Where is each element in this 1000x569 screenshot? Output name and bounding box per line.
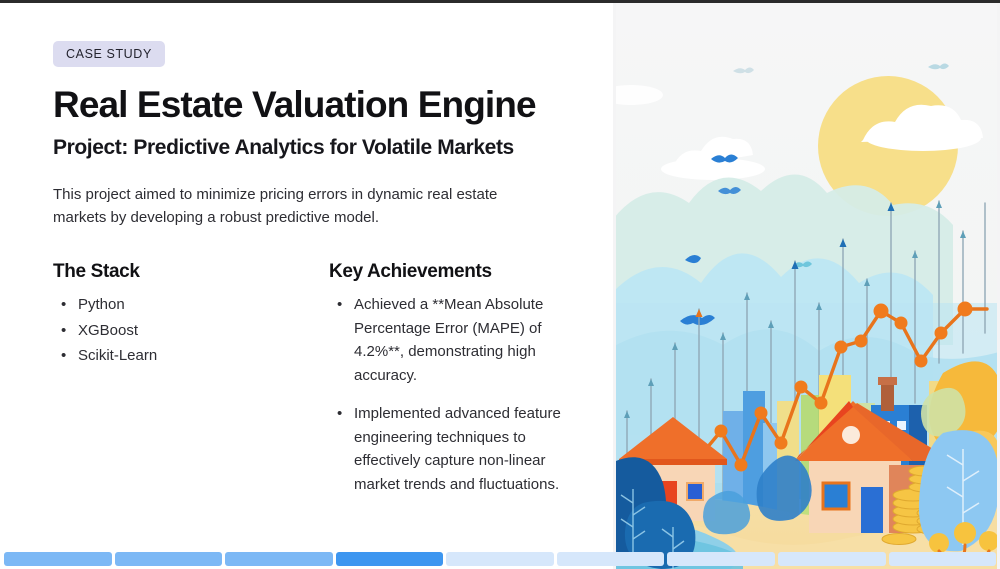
page-title: Real Estate Valuation Engine <box>53 85 569 125</box>
illustration-left-edge <box>613 3 616 569</box>
list-item: Python <box>78 293 329 317</box>
achievements-column: Key Achievements Achieved a **Mean Absol… <box>329 261 569 511</box>
illustration-panel <box>613 3 1000 569</box>
progress-segment-7[interactable] <box>667 552 775 566</box>
progress-segment-9[interactable] <box>889 552 997 566</box>
list-item: Achieved a **Mean Absolute Percentage Er… <box>354 293 569 388</box>
stack-list: Python XGBoost Scikit-Learn <box>53 293 329 368</box>
progress-segment-4[interactable] <box>336 552 444 566</box>
stack-column: The Stack Python XGBoost Scikit-Learn <box>53 261 329 511</box>
slide-root: CASE STUDY Real Estate Valuation Engine … <box>0 0 1000 569</box>
progress-segment-3[interactable] <box>225 552 333 566</box>
status-badge: CASE STUDY <box>53 41 165 67</box>
achievements-list: Achieved a **Mean Absolute Percentage Er… <box>329 293 569 497</box>
intro-paragraph: This project aimed to minimize pricing e… <box>53 183 523 230</box>
real-estate-growth-illustration <box>613 3 1000 569</box>
slide-content: CASE STUDY Real Estate Valuation Engine … <box>0 3 613 569</box>
page-subtitle: Project: Predictive Analytics for Volati… <box>53 136 569 160</box>
list-item: Scikit-Learn <box>78 344 329 368</box>
progress-segment-8[interactable] <box>778 552 886 566</box>
progress-segment-2[interactable] <box>115 552 223 566</box>
list-item: XGBoost <box>78 319 329 343</box>
progress-segment-1[interactable] <box>4 552 112 566</box>
two-column-section: The Stack Python XGBoost Scikit-Learn Ke… <box>53 261 569 511</box>
progress-segment-6[interactable] <box>557 552 665 566</box>
list-item: Implemented advanced feature engineering… <box>354 402 569 497</box>
slide-progress-bar[interactable] <box>0 552 1000 569</box>
progress-segment-5[interactable] <box>446 552 554 566</box>
achievements-heading: Key Achievements <box>329 261 569 283</box>
stack-heading: The Stack <box>53 261 329 283</box>
foliage-right <box>919 430 999 563</box>
